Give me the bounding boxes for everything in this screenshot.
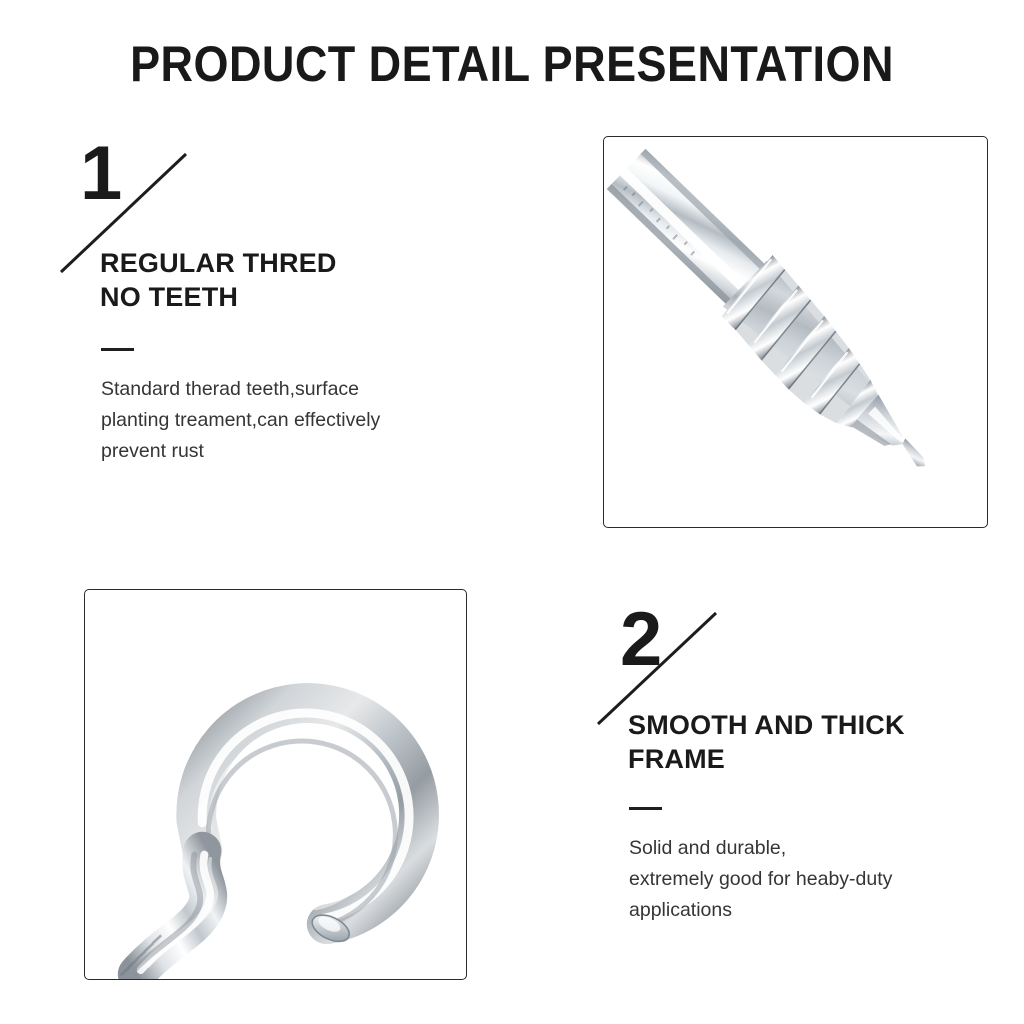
screw-photo-frame [603, 136, 988, 528]
feature-2-divider [629, 807, 662, 810]
feature-2-heading: SMOOTH AND THICK FRAME [628, 708, 905, 776]
feature-1-body: Standard therad teeth,surface planting t… [101, 374, 496, 467]
page-title: PRODUCT DETAIL PRESENTATION [51, 36, 973, 92]
screw-thread-image [604, 137, 987, 527]
feature-1-heading: REGULAR THRED NO TEETH [100, 246, 337, 314]
feature-block-1: 1 REGULAR THRED NO TEETH Standard therad… [58, 136, 488, 276]
feature-2-number: 2 [620, 602, 661, 678]
hook-photo-frame [84, 589, 467, 980]
feature-1-divider [101, 348, 134, 351]
cup-hook-image [85, 590, 466, 979]
feature-1-number: 1 [80, 136, 121, 212]
feature-2-body: Solid and durable, extremely good for he… [629, 833, 989, 926]
feature-block-2: 2 SMOOTH AND THICK FRAME Solid and durab… [596, 600, 996, 740]
